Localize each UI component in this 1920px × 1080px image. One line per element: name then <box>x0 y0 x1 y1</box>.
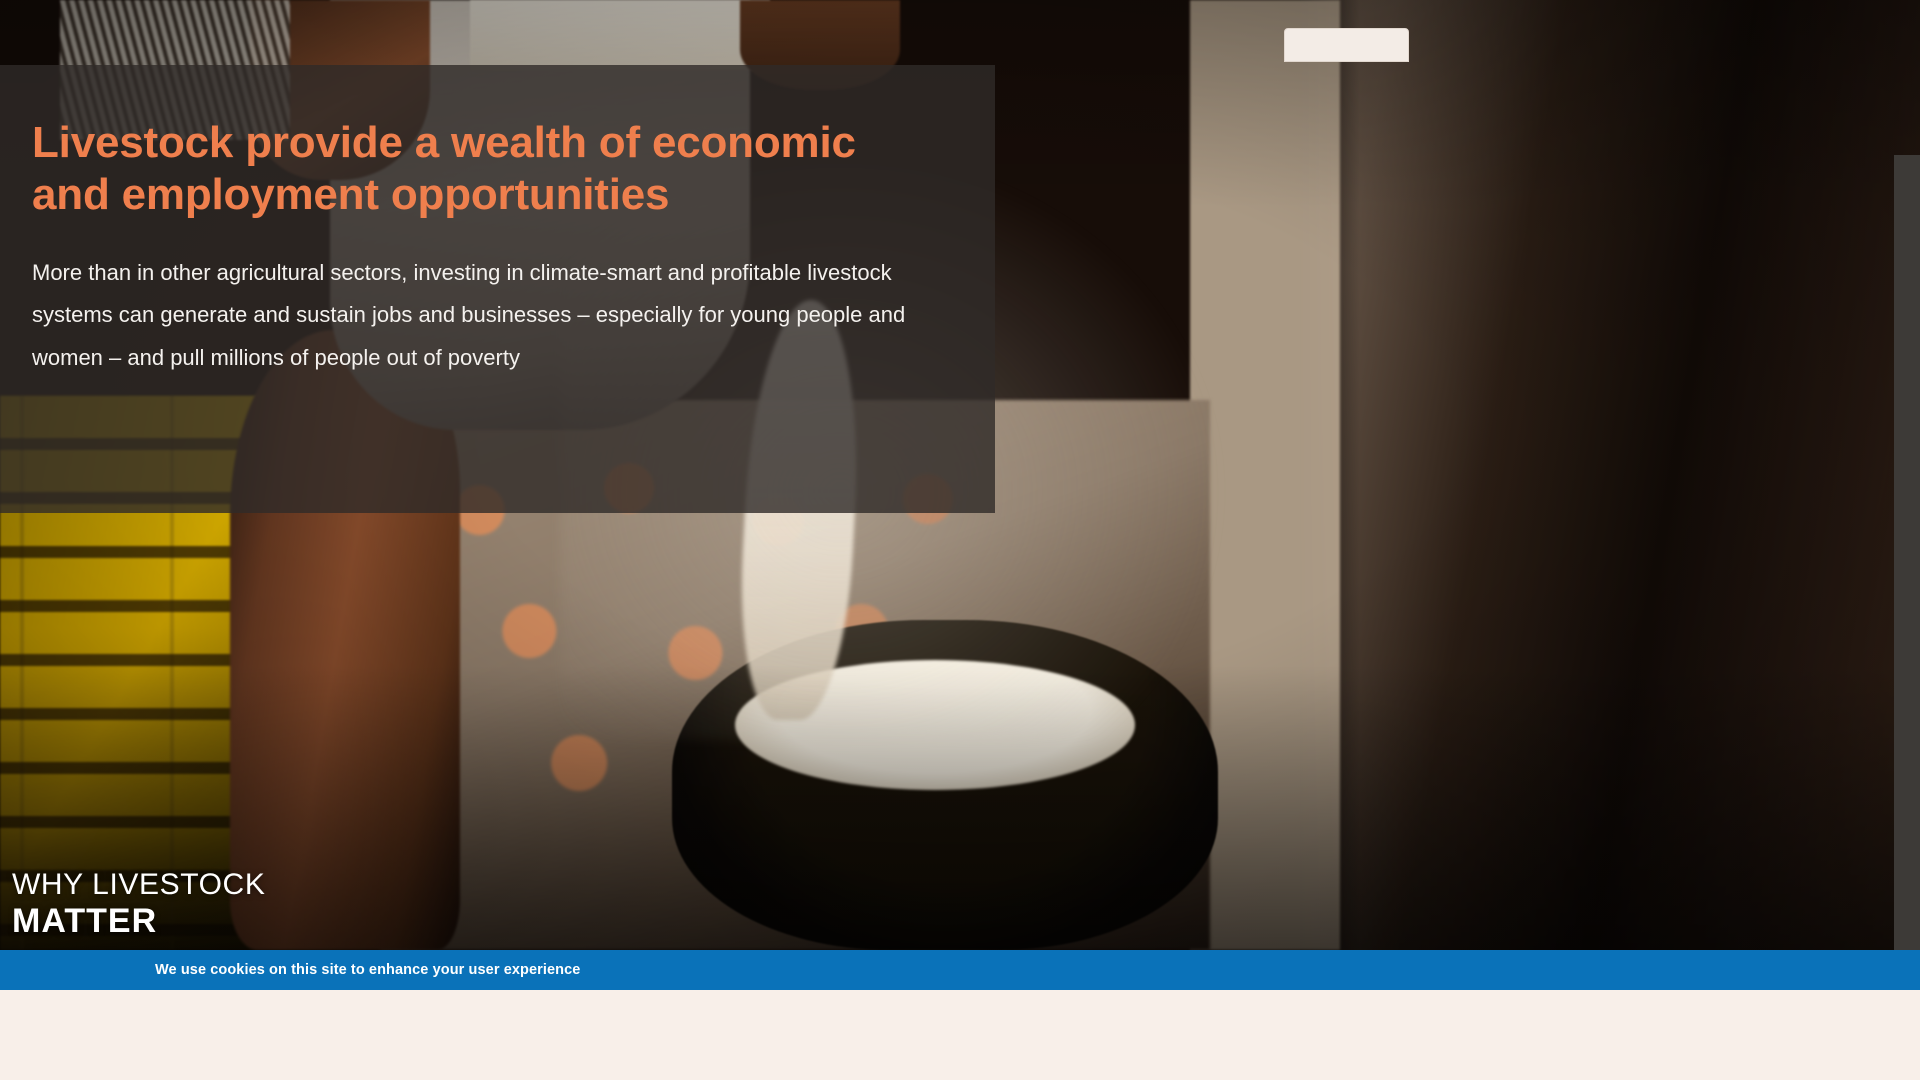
hero-description: More than in other agricultural sectors,… <box>32 252 925 380</box>
cookie-message: We use cookies on this site to enhance y… <box>155 962 580 978</box>
hero-banner-image: Livestock provide a wealth of economic a… <box>0 0 1920 950</box>
cookie-accept-button[interactable] <box>1284 28 1409 62</box>
cookie-consent-bar: We use cookies on this site to enhance y… <box>0 950 1920 990</box>
page-root: Livestock provide a wealth of economic a… <box>0 0 1920 1080</box>
site-logo-line-2: MATTER <box>12 902 265 940</box>
site-logo-line-1: WHY LIVESTOCK <box>12 868 265 902</box>
page-title: Livestock provide a wealth of economic a… <box>32 117 925 222</box>
page-footer-area <box>0 990 1920 1080</box>
hero-text-overlay: Livestock provide a wealth of economic a… <box>0 65 995 513</box>
vertical-url-strip: s://whylivestockmatter-staging.fabiofida… <box>1894 155 1920 955</box>
site-logo[interactable]: WHY LIVESTOCK MATTER <box>12 868 265 940</box>
